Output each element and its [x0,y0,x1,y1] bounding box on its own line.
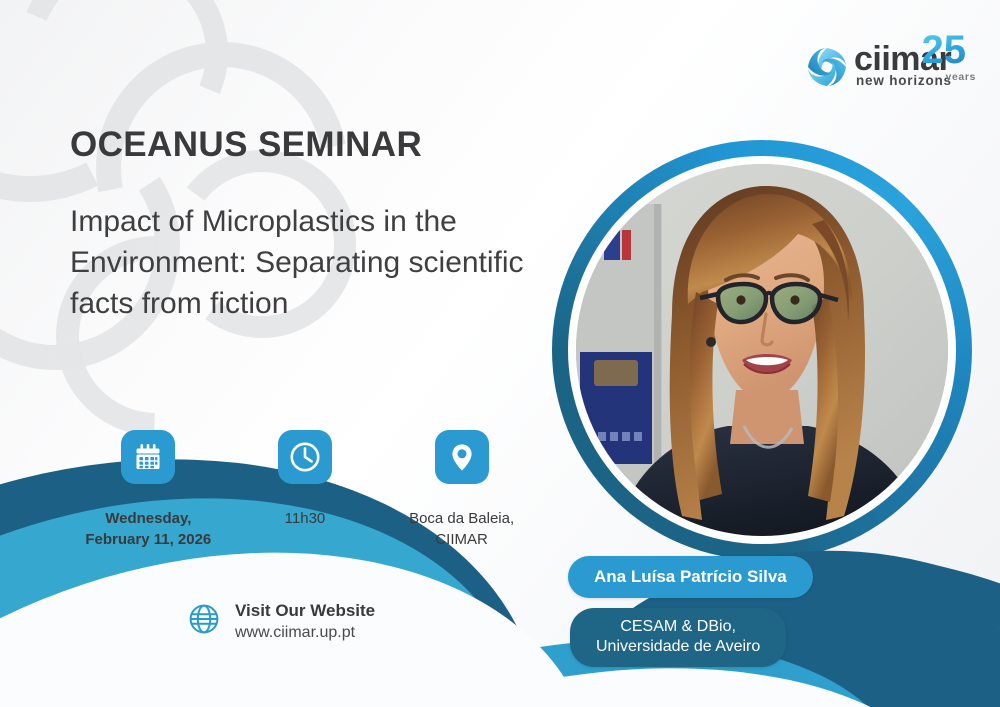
headline-block: OCEANUS SEMINAR Impact of Microplastics … [70,126,540,325]
calendar-icon [121,430,175,484]
ciimar-pinwheel-icon [804,44,850,90]
website-block[interactable]: Visit Our Website www.ciimar.up.pt [186,600,375,644]
ciimar-logo: ciimar new horizons 25 years [804,36,982,98]
anniversary-label: years [946,72,976,83]
website-text: Visit Our Website www.ciimar.up.pt [235,600,375,644]
seminar-poster: ciimar new horizons 25 years OCEANUS SEM… [0,0,1000,707]
website-url[interactable]: www.ciimar.up.pt [235,624,355,641]
event-details-row: Wednesday, February 11, 2026 11h30 Boca … [70,430,540,551]
seminar-kicker: OCEANUS SEMINAR [70,126,540,165]
clock-icon [278,430,332,484]
event-location-text: Boca da Baleia, CIIMAR [409,508,514,551]
speaker-portrait-frame [552,140,972,560]
anniversary-number: 25 [922,30,967,70]
speaker-photo [576,164,948,536]
speaker-name-badge: Ana Luísa Patrício Silva [568,556,813,598]
event-detail-date: Wednesday, February 11, 2026 [70,430,227,551]
speaker-affiliation-badge: CESAM & DBio, Universidade de Aveiro [570,608,786,667]
event-time-text: 11h30 [285,508,326,529]
event-detail-time: 11h30 [227,430,384,551]
event-detail-location: Boca da Baleia, CIIMAR [383,430,540,551]
globe-icon [186,601,222,642]
website-title: Visit Our Website [235,601,375,620]
seminar-title: Impact of Microplastics in the Environme… [70,201,540,325]
event-date-text: Wednesday, February 11, 2026 [85,508,211,551]
location-pin-icon [435,430,489,484]
ciimar-tagline: new horizons [856,74,952,88]
